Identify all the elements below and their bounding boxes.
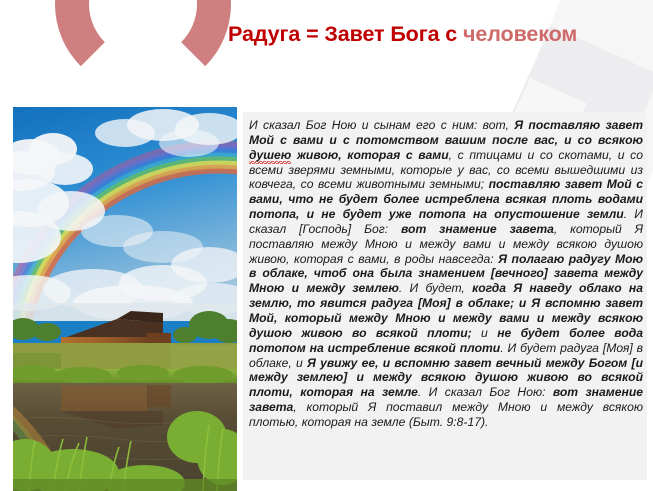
scripture-run: . И сказал Бог Ною: [418,385,553,399]
scripture-run: . И будет, [399,281,472,295]
scripture-run: И сказал Бог Ною и сынам его с ним: вот, [249,118,514,132]
misspelled-word: душею [249,148,291,164]
rose-u-arc [55,0,231,92]
slide-canvas: Радуга = Завет Бога с человеком [0,0,653,491]
scripture-text-block: И сказал Бог Ною и сынам его с ним: вот,… [243,112,647,480]
scripture-run: , который Я поставил между Мною и между … [249,400,643,429]
scripture-run: живою, которая с вами [291,148,448,162]
page-title-fade: человеком [463,22,577,46]
scripture-run: вот знамение завета [401,222,554,236]
page-title: Радуга = Завет Бога с человеком [228,22,648,47]
rainbow-barn-photo [13,107,237,491]
page-title-strong: Радуга = Завет Бога с [228,22,463,46]
scripture-run: и [481,326,488,340]
photo-artwork [13,107,237,491]
scripture-paragraph: И сказал Бог Ною и сынам его с ним: вот,… [249,118,643,430]
